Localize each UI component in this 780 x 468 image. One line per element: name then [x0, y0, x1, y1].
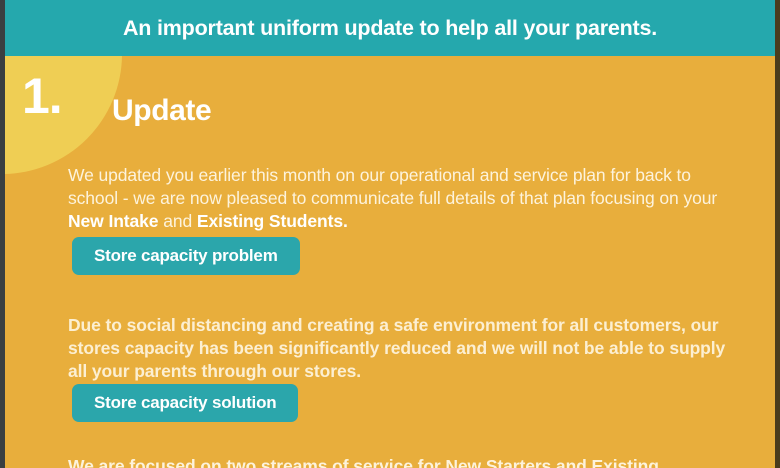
store-capacity-problem-button[interactable]: Store capacity problem — [72, 237, 300, 275]
intro-paragraph: We updated you earlier this month on our… — [68, 164, 728, 234]
intro-emphasis-new-intake: New Intake — [68, 211, 158, 231]
intro-emphasis-existing-students: Existing Students. — [197, 211, 348, 231]
problem-paragraph: Due to social distancing and creating a … — [68, 314, 728, 384]
intro-text-part-2: and — [158, 211, 196, 231]
slide-root: An important uniform update to help all … — [0, 0, 780, 468]
panel-inner: 1. Update We updated you earlier this mo… — [4, 56, 776, 468]
step-number: 1. — [22, 71, 62, 121]
frame-edge-right — [775, 0, 780, 468]
frame-edge-left — [0, 0, 5, 468]
solution-paragraph: We are focused on two streams of service… — [68, 455, 728, 468]
content-panel: 1. Update We updated you earlier this mo… — [4, 56, 776, 468]
intro-text-part-1: We updated you earlier this month on our… — [68, 165, 717, 208]
banner-title: An important uniform update to help all … — [123, 16, 657, 41]
store-capacity-solution-button[interactable]: Store capacity solution — [72, 384, 298, 422]
header-banner: An important uniform update to help all … — [4, 0, 776, 56]
section-heading: Update — [112, 96, 211, 126]
